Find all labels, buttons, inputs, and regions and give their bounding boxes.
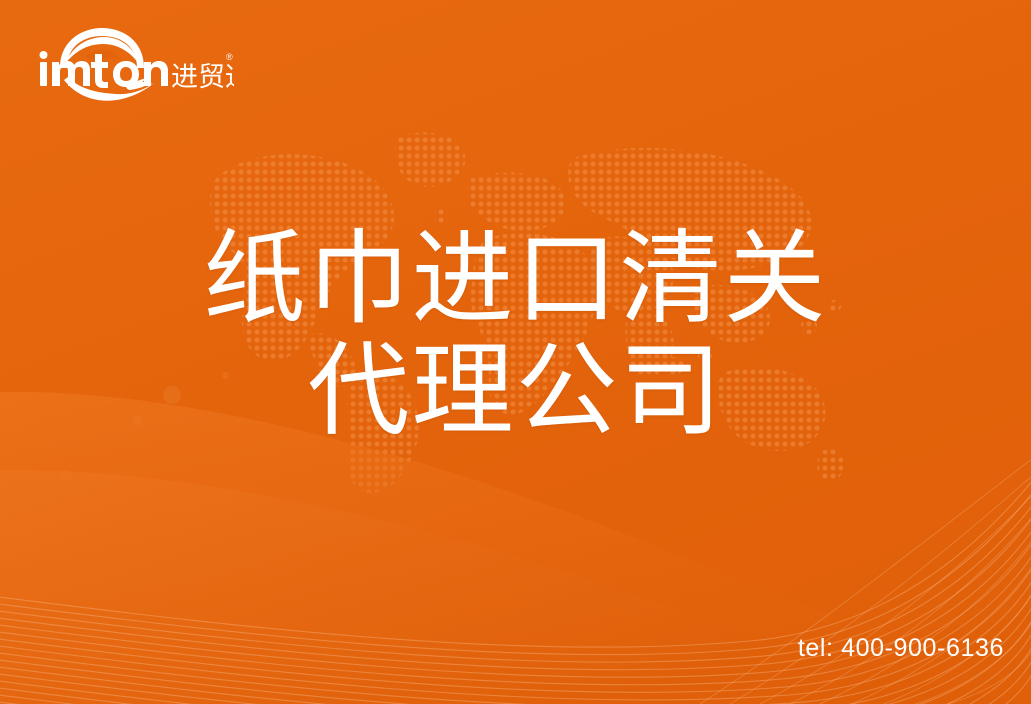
headline-line-1: 纸巾进口清关 [0,224,1031,336]
contact-phone[interactable]: tel: 400-900-6136 [798,634,1004,663]
headline-line-2: 代理公司 [0,336,1031,448]
logo-chinese-label: 进贸通 [171,62,234,93]
bokeh-speck [60,470,72,482]
page-title: 纸巾进口清关 代理公司 [0,224,1031,448]
swoosh-plane-icon [64,77,154,101]
poster-canvas: 进贸通 ® 纸巾进口清关 代理公司 tel: 400-900-6136 [0,0,1031,704]
brand-logo[interactable]: 进贸通 ® [34,28,234,102]
registered-mark: ® [226,52,233,62]
